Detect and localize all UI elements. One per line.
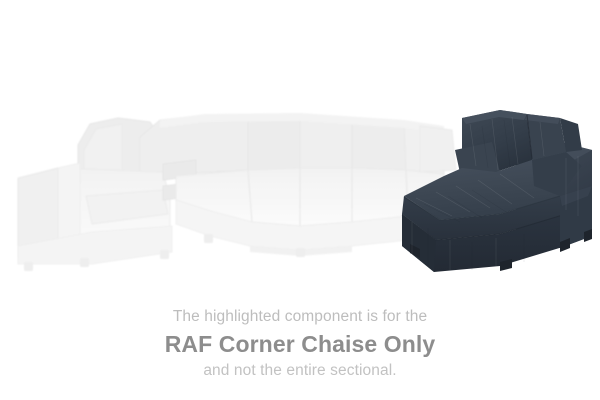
sectional-sofa-diagram	[0, 0, 600, 300]
caption-line-bottom: and not the entire sectional.	[0, 360, 600, 382]
caption-line-main: RAF Corner Chaise Only	[0, 328, 600, 360]
caption-block: The highlighted component is for the RAF…	[0, 306, 600, 382]
caption-line-top: The highlighted component is for the	[0, 306, 600, 328]
ghost-sectional-group	[18, 113, 456, 271]
product-image-canvas: The highlighted component is for the RAF…	[0, 0, 600, 400]
